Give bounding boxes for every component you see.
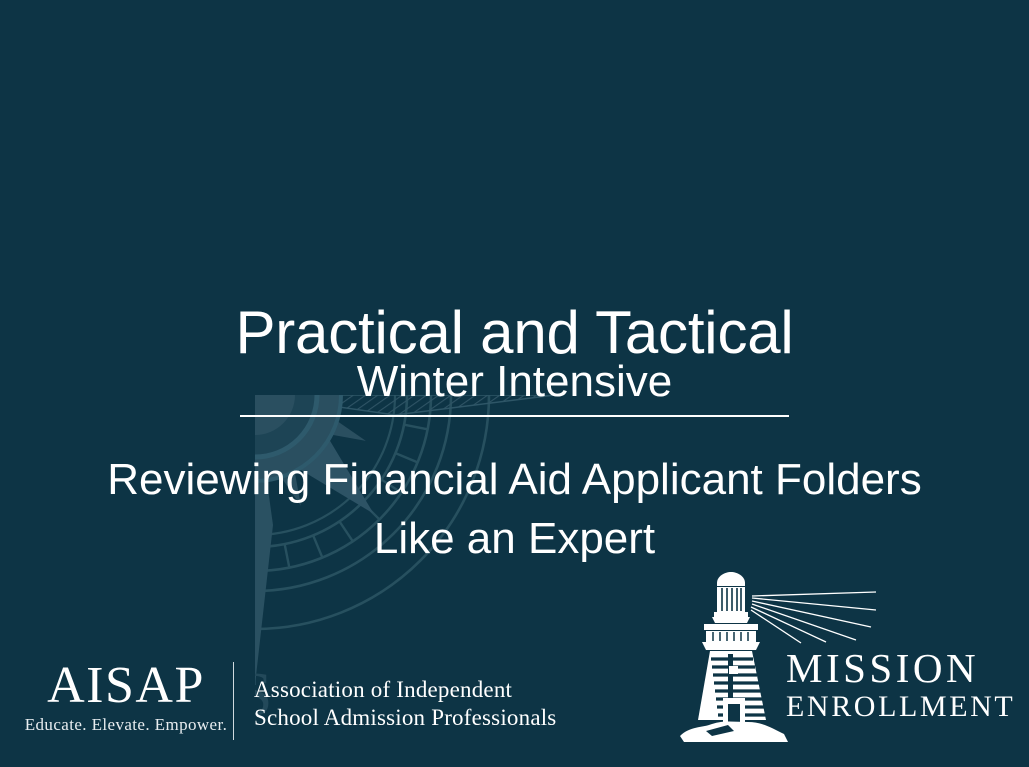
mission-word-secondary: ENROLLMENT xyxy=(786,690,1015,724)
headline-line-1: Reviewing Financial Aid Applicant Folder… xyxy=(0,450,1029,509)
title-block: Practical and Tactical Winter Intensive xyxy=(0,302,1029,417)
mission-enrollment-logo: MISSION ENROLLMENT xyxy=(676,570,1021,750)
page-subtitle: Winter Intensive xyxy=(0,358,1029,406)
aisap-fullname: Association of Independent School Admiss… xyxy=(254,660,556,732)
mission-word-primary: MISSION xyxy=(786,646,1015,690)
compass-label-northwest: nw xyxy=(56,196,132,272)
page-title: Practical and Tactical xyxy=(0,302,1029,364)
aisap-logo: AISAP Educate. Elevate. Empower. Associa… xyxy=(33,660,556,740)
aisap-fullname-line-1: Association of Independent xyxy=(254,676,556,704)
compass-label-northeast: ne xyxy=(382,201,449,268)
headline-line-2: Like an Expert xyxy=(0,509,1029,568)
aisap-wordmark: AISAP xyxy=(47,660,205,712)
title-divider-rule xyxy=(240,415,789,417)
aisap-tagline: Educate. Elevate. Empower. xyxy=(25,715,228,735)
title-slide: N S nw ne sw Practical and Tactical Wint… xyxy=(0,0,1029,767)
aisap-divider xyxy=(233,662,234,740)
aisap-mark: AISAP Educate. Elevate. Empower. xyxy=(33,660,219,735)
compass-label-north: N xyxy=(231,37,279,110)
mission-wordmark: MISSION ENROLLMENT xyxy=(786,646,1015,724)
session-headline: Reviewing Financial Aid Applicant Folder… xyxy=(0,450,1029,568)
aisap-fullname-line-2: School Admission Professionals xyxy=(254,704,556,732)
